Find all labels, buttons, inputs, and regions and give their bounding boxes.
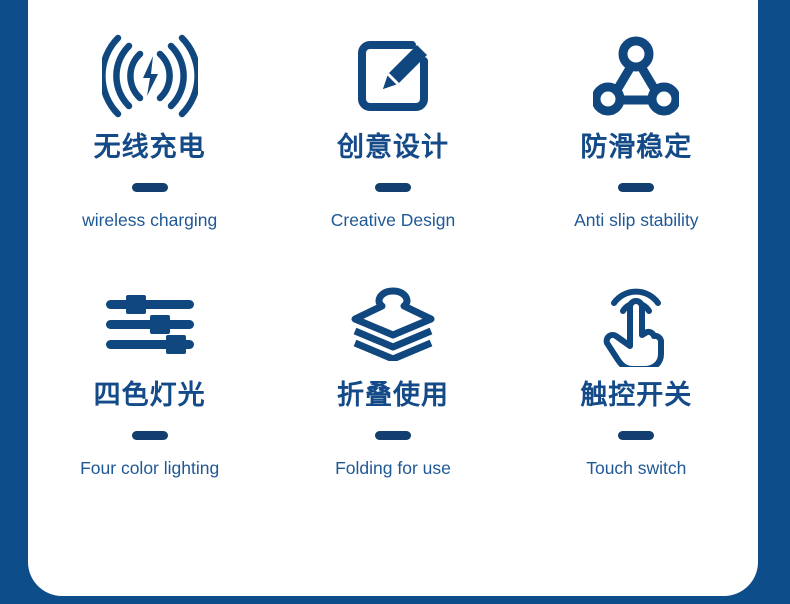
feature-item-folding-for-use: 折叠使用 Folding for use <box>271 270 514 522</box>
feature-card: 无线充电 wireless charging 创意设计 Cre <box>28 0 758 596</box>
feature-subtitle: Touch switch <box>586 460 686 478</box>
feature-divider <box>618 431 654 440</box>
touch-hand-tap-icon <box>596 276 676 372</box>
feature-heading: 触控开关 <box>580 382 692 409</box>
feature-grid: 无线充电 wireless charging 创意设计 Cre <box>28 18 758 522</box>
feature-subtitle: wireless charging <box>82 212 217 230</box>
pencil-square-edit-icon <box>350 24 436 128</box>
feature-divider <box>132 431 168 440</box>
feature-heading: 防滑稳定 <box>580 134 692 161</box>
feature-divider <box>375 183 411 192</box>
feature-heading: 创意设计 <box>337 134 449 161</box>
feature-heading: 无线充电 <box>94 134 206 161</box>
wireless-charging-icon <box>102 24 198 128</box>
sliders-settings-icon <box>104 276 196 372</box>
feature-subtitle: Four color lighting <box>80 460 219 478</box>
page-background: 无线充电 wireless charging 创意设计 Cre <box>0 0 790 604</box>
feature-item-four-color-lighting: 四色灯光 Four color lighting <box>28 270 271 522</box>
feature-item-creative-design: 创意设计 Creative Design <box>271 18 514 270</box>
feature-divider <box>375 431 411 440</box>
feature-subtitle: Folding for use <box>335 460 451 478</box>
feature-divider <box>618 183 654 192</box>
triangle-three-nodes-icon <box>593 24 679 128</box>
feature-item-wireless-charging: 无线充电 wireless charging <box>28 18 271 270</box>
feature-item-touch-switch: 触控开关 Touch switch <box>515 270 758 522</box>
stacked-layers-fold-icon <box>349 276 437 372</box>
feature-heading: 折叠使用 <box>337 382 449 409</box>
feature-subtitle: Anti slip stability <box>574 212 699 230</box>
feature-heading: 四色灯光 <box>94 382 206 409</box>
feature-divider <box>132 183 168 192</box>
feature-item-anti-slip-stability: 防滑稳定 Anti slip stability <box>515 18 758 270</box>
feature-subtitle: Creative Design <box>331 212 456 230</box>
